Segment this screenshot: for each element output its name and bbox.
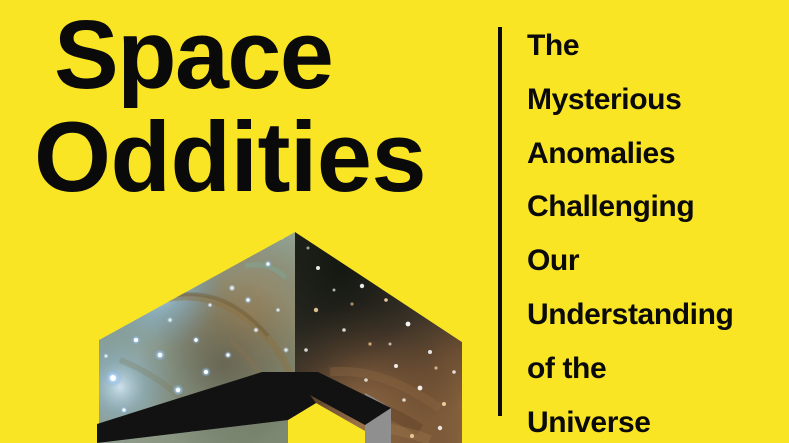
title-line-space: Space [34, 4, 484, 106]
subtitle-line-5: Our [527, 234, 782, 288]
beam-inner-face [288, 403, 365, 443]
cube-face-left [90, 225, 305, 443]
book-cover: Space Oddities The Mysterious Anomalies … [0, 0, 789, 443]
subtitle-line-8: Universe [527, 396, 782, 443]
subtitle-line-1: The [527, 19, 782, 73]
subtitle-line-7: of the [527, 342, 782, 396]
subtitle-line-6: Understanding [527, 288, 782, 342]
cube-face-right [290, 228, 470, 443]
subtitle-block: The Mysterious Anomalies Challenging Our… [527, 19, 782, 443]
vertical-rule-divider [498, 27, 502, 416]
beam-black-diagonal [97, 372, 316, 443]
subtitle-line-3: Anomalies [527, 127, 782, 181]
beam-side-face [365, 393, 391, 443]
title-line-oddities: Oddities [34, 106, 484, 208]
title-block: Space Oddities [34, 4, 484, 208]
subtitle-line-2: Mysterious [527, 73, 782, 127]
beam-black [262, 372, 391, 425]
subtitle-line-4: Challenging [527, 180, 782, 234]
